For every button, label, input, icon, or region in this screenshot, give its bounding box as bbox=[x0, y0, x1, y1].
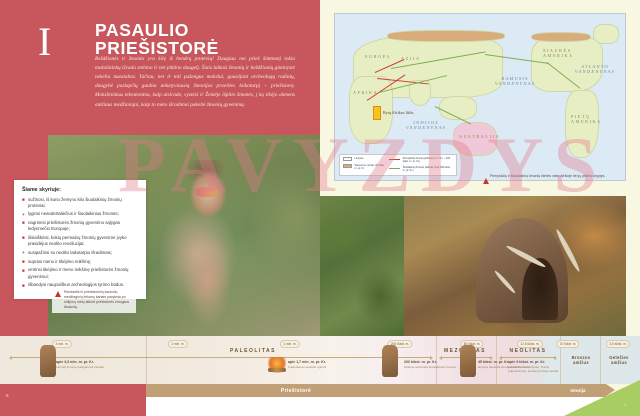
map-caption: Pirmykščių ir šiuolaikinių žmonių kilmės… bbox=[480, 174, 626, 179]
event-description: pradedama naudotis ugnimi bbox=[288, 365, 358, 369]
timeline-event: apie 1,7 mln. m. pr. Kr. pradedama naudo… bbox=[288, 360, 358, 369]
list-item: ■suprasi meno ir tikėjimo reikšmę; bbox=[22, 259, 139, 265]
list-item-label: nagrinėsi priešistorės žmonių gyvenimo s… bbox=[28, 220, 120, 231]
bullet-icon: ■ bbox=[22, 269, 25, 274]
list-item-label: susipažinsi su neolito laikotarpio išrad… bbox=[28, 250, 112, 255]
list-item-label: išsiaiškinsi, kokių permainų žmonių gyve… bbox=[28, 235, 127, 246]
list-item: +lyginsi neandertaliečius ir šiuolaikini… bbox=[22, 211, 139, 217]
legend-label: Sausumos ruožai, 20 tūkst. m. pr. Kr. bbox=[355, 164, 386, 171]
footer-prehistory-label: Priešistorė bbox=[146, 384, 446, 397]
timeline-tick: 3 mln. m. bbox=[52, 340, 72, 348]
legend-row: Šiuolaikinių žmonių plitimas (nuo 200 tū… bbox=[389, 166, 453, 173]
footer-period-bar: Priešistorė Istorija bbox=[146, 384, 606, 397]
map-land-south-america bbox=[565, 90, 599, 158]
timeline-tick: 12,5 tūkst. m. bbox=[517, 340, 543, 348]
legend-label: Ledynai bbox=[355, 157, 364, 160]
world-migration-map: RAMUSIS VANDENYNAS ATLANTO VANDENYNAS IN… bbox=[334, 13, 626, 181]
map-continent-label-africa: AFRIKA bbox=[353, 90, 378, 95]
green-corner-decoration bbox=[564, 380, 640, 416]
chapter-objectives-title: Šiame skyriuje: bbox=[22, 187, 139, 193]
timeline-era-bronze: Bronzos amžius bbox=[564, 355, 598, 365]
timeline-figure-europe bbox=[460, 345, 476, 377]
timeline-figure-hominid bbox=[40, 345, 56, 377]
chapter-number: I bbox=[38, 22, 52, 62]
timeline-tick: 10 tūkst. m. bbox=[556, 340, 579, 348]
list-item: +susipažinsi su neolito laikotarpio išra… bbox=[22, 250, 139, 256]
legend-line-modern bbox=[389, 168, 400, 169]
timeline-event: apie 3,3 mln. m. pr. Kr. pirmieji žmonių… bbox=[56, 360, 126, 369]
era-bronze-line2: amžius bbox=[564, 360, 598, 365]
timeline-tick: 3,5 tūkst. m. bbox=[606, 340, 630, 348]
list-item-label: vertinsi tikėjimo ir meno reikšmę prieši… bbox=[28, 267, 128, 278]
hut-entrance bbox=[522, 258, 558, 320]
legend-column-routes: Pirmykščių žmonių plitimas (1,7 mln. – 3… bbox=[389, 157, 453, 173]
map-continent-label-australia: AUSTRALIJA bbox=[459, 134, 500, 139]
map-land-australia bbox=[453, 122, 497, 156]
legend-label: Šiuolaikinių žmonių plitimas (nuo 200 tū… bbox=[403, 166, 453, 173]
event-description: pirmieji žmonių pasigaminti įrankiai bbox=[56, 365, 126, 369]
map-origin-label: Rytų Afrikos lūžis bbox=[383, 110, 414, 115]
warning-triangle-icon bbox=[483, 178, 489, 184]
timeline-arrow-neolithic bbox=[500, 357, 556, 358]
timeline-event: apie 9 tūkst. m. pr. Kr. prasideda žemdi… bbox=[508, 360, 562, 373]
timeline-era-neolithic: NEOLITAS bbox=[510, 348, 547, 354]
caption-text: Pirmykščių ir šiuolaikinių žmonių kilmės… bbox=[490, 174, 605, 178]
bullet-icon: ■ bbox=[22, 221, 25, 226]
map-continent-label-north-america: ŠIAURĖS AMERIKA bbox=[543, 48, 583, 58]
map-legend: Ledynai Sausumos ruožai, 20 tūkst. m. pr… bbox=[339, 154, 457, 177]
legend-row: Pirmykščių žmonių plitimas (1,7 mln. – 3… bbox=[389, 157, 453, 164]
warning-triangle-icon bbox=[55, 291, 61, 297]
map-continent-label-asia: AZIJA bbox=[401, 56, 421, 61]
prehistoric-hut-photo bbox=[404, 196, 626, 336]
bullet-icon: ■ bbox=[22, 198, 25, 203]
map-land-tundra-north bbox=[387, 30, 505, 42]
photo-face-paint bbox=[196, 187, 218, 197]
event-description: Afrikoje atsiranda šiuolaikiniai žmonės bbox=[404, 365, 460, 369]
map-ocean-label-pacific: RAMUSIS VANDENYNAS bbox=[485, 76, 545, 86]
legend-column-swatches: Ledynai Sausumos ruožai, 20 tūkst. m. pr… bbox=[343, 157, 385, 173]
page-title: PASAULIO PRIEŠISTORĖ bbox=[95, 21, 310, 58]
timeline: 3 mln. m. 2 mln. m. 1 mln. m. 200 tūkst.… bbox=[0, 336, 640, 384]
legend-label: Pirmykščių žmonių plitimas (1,7 mln. – 3… bbox=[403, 157, 453, 164]
list-item: ■sužinosi, iš kurio žemyno kilo šiuolaik… bbox=[22, 197, 139, 209]
map-continent-label-south-america: PIETŲ AMERIKA bbox=[571, 114, 601, 124]
timeline-divider bbox=[600, 336, 601, 384]
plus-icon: + bbox=[22, 213, 25, 218]
legend-swatch-ice bbox=[343, 157, 352, 161]
list-item-label: suprasi meno ir tikėjimo reikšmę; bbox=[28, 259, 91, 264]
list-item-label: lyginsi neandertaliečius ir šiuolaikiniu… bbox=[28, 211, 119, 216]
timeline-figure-sapiens bbox=[382, 345, 398, 377]
left-photo-caption: Remiantis iš priešistorinių kaukolių med… bbox=[52, 287, 136, 313]
map-continent-label-europe: EUROPA bbox=[365, 54, 391, 59]
era-iron-line2: amžius bbox=[602, 360, 636, 365]
timeline-era-paleolithic: PALEOLITAS bbox=[230, 348, 276, 354]
bullet-icon: ■ bbox=[22, 284, 25, 289]
map-land-tundra-na bbox=[531, 32, 591, 42]
plus-icon: + bbox=[22, 251, 25, 256]
chapter-objectives-card: Šiame skyriuje: ■sužinosi, iš kurio žemy… bbox=[14, 180, 146, 299]
caption-text: Remiantis iš priešistorinių kaukolių med… bbox=[64, 290, 129, 309]
timeline-tick: 1 mln. m. bbox=[280, 340, 300, 348]
map-land-greenland bbox=[593, 24, 619, 44]
legend-row: Sausumos ruožai, 20 tūkst. m. pr. Kr. bbox=[343, 164, 385, 171]
legend-row: Ledynai bbox=[343, 157, 385, 161]
timeline-arrow-paleolithic bbox=[10, 357, 432, 358]
page-number-left: 8 bbox=[6, 393, 9, 398]
event-description: prasideda žemdirbystė, žvėrių prijaukini… bbox=[508, 365, 562, 373]
list-item: ■išsiaiškinsi, kokių permainų žmonių gyv… bbox=[22, 235, 139, 247]
map-ocean-label-indian: INDIJOS VANDENYNAS bbox=[397, 120, 455, 130]
map-origin-marker bbox=[373, 106, 381, 120]
timeline-divider bbox=[146, 336, 147, 384]
chapter-objectives-list: ■sužinosi, iš kurio žemyno kilo šiuolaik… bbox=[22, 197, 139, 289]
list-item: ■nagrinėsi priešistorės žmonių gyvenimo … bbox=[22, 220, 139, 232]
map-ocean-label-atlantic: ATLANTO VANDENYNAS bbox=[567, 64, 623, 74]
bullet-icon: ■ bbox=[22, 236, 25, 241]
timeline-event: 200 tūkst. m. pr. Kr. Afrikoje atsiranda… bbox=[404, 360, 460, 369]
legend-swatch-land bbox=[343, 164, 352, 168]
list-item-label: sužinosi, iš kurio žemyno kilo šiuolaiki… bbox=[28, 197, 122, 208]
bullet-icon: ■ bbox=[22, 260, 25, 265]
list-item: ■vertinsi tikėjimo ir meno reikšmę prieš… bbox=[22, 267, 139, 279]
foliage-photo bbox=[320, 196, 406, 336]
page-number-right: 9 bbox=[624, 402, 626, 407]
timeline-tick: 2 mln. m. bbox=[168, 340, 188, 348]
chapter-intro-text: Beždžionės ir žmonės yra kilę iš bendrų … bbox=[95, 55, 295, 110]
legend-line-primitive bbox=[389, 159, 400, 160]
timeline-fire-icon bbox=[268, 357, 286, 373]
textbook-spread: I PASAULIO PRIEŠISTORĖ Beždžionės ir žmo… bbox=[0, 0, 640, 416]
timeline-era-iron: Geležies amžius bbox=[602, 355, 636, 365]
